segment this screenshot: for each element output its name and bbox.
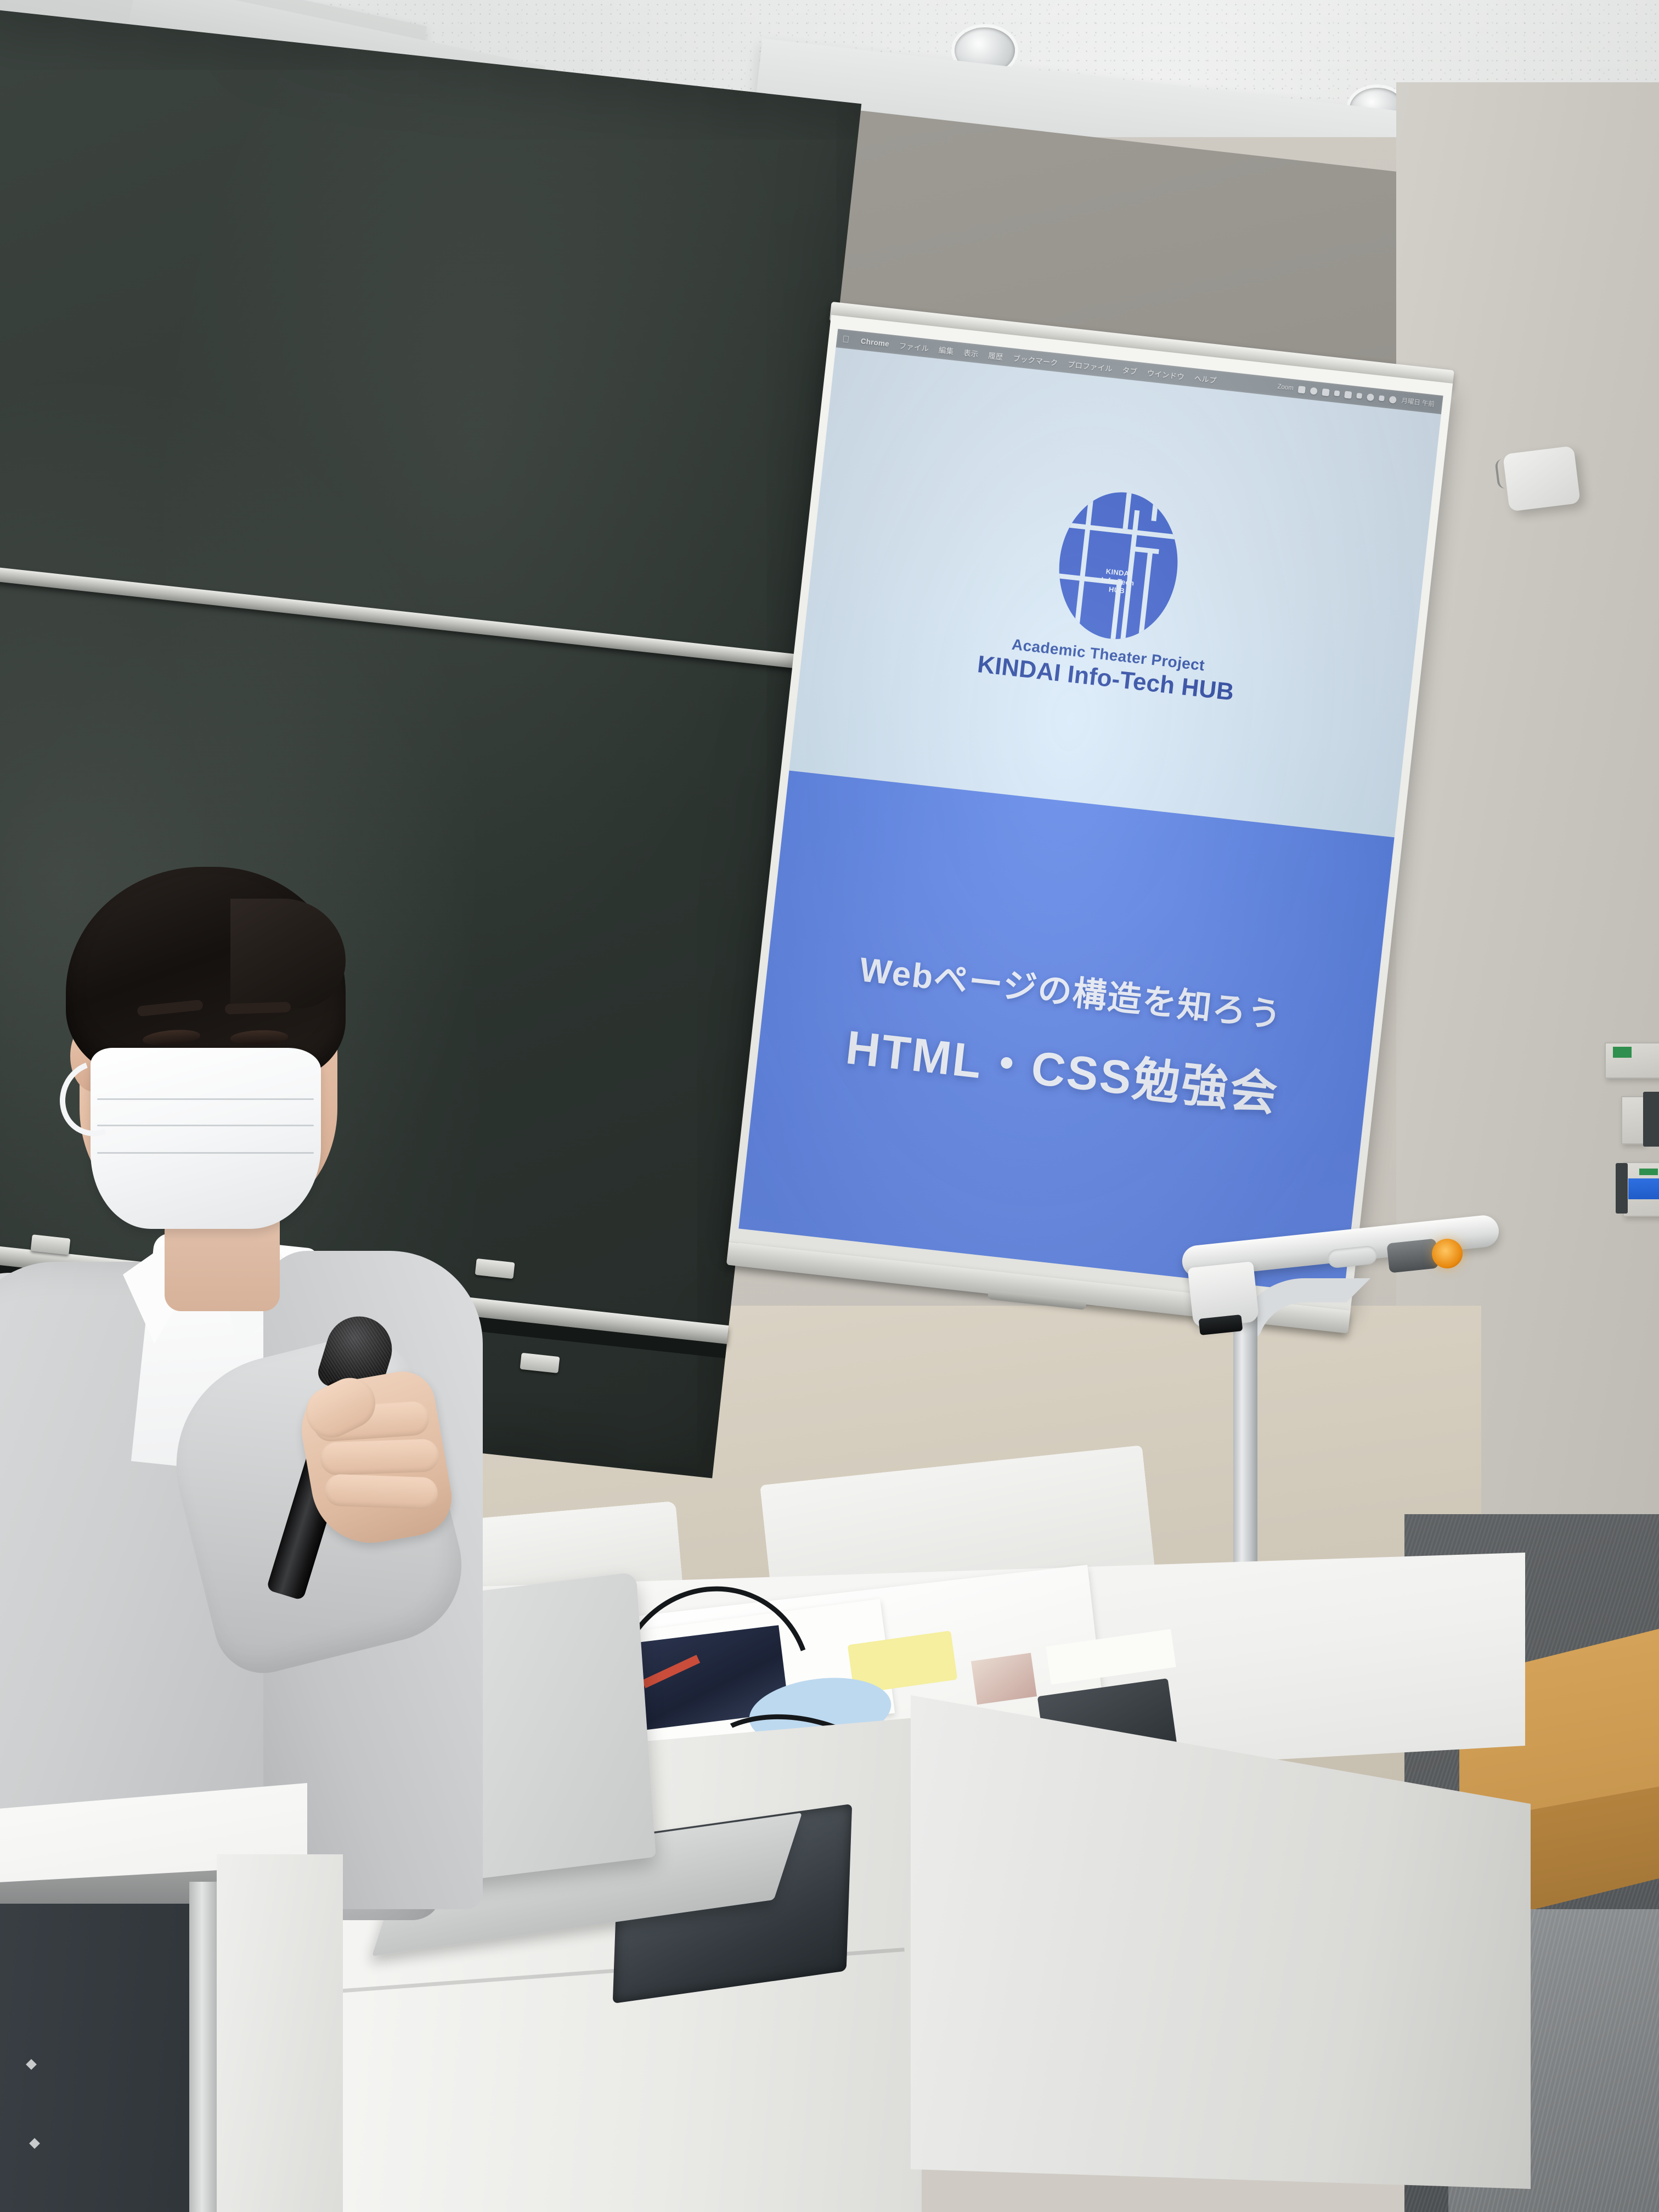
menu-item-edit[interactable]: 編集 (933, 343, 959, 357)
screen-share-icon[interactable] (1298, 386, 1306, 393)
projected-desktop:  Chrome ファイル 編集 表示 履歴 ブックマーク プロファイル タブ … (738, 329, 1443, 1295)
wall-panel-dark (1643, 1092, 1659, 1147)
menu-item-chrome[interactable]: Chrome (855, 336, 894, 349)
keyboard-icon[interactable] (1344, 391, 1352, 398)
foreground-desk-front (0, 1904, 208, 2212)
control-center-icon[interactable] (1379, 395, 1385, 401)
wall-control-panel-bezel (1616, 1163, 1628, 1214)
podium-small-card (971, 1653, 1037, 1705)
status-zoom-label[interactable]: Zoom (1277, 383, 1294, 392)
slide-title-section: Webページの構造を知ろう HTML・CSS勉強会 (738, 770, 1395, 1295)
menu-item-bookmarks[interactable]: ブックマーク (1007, 352, 1063, 369)
menu-item-profiles[interactable]: プロファイル (1062, 358, 1118, 375)
logo-ellipse: KINDAIInfo-TechHUB (1052, 486, 1185, 645)
wall-speaker-icon (1503, 445, 1581, 511)
wall-control-panel-display (1628, 1178, 1659, 1199)
wall-control-panel-led (1639, 1169, 1658, 1175)
status-datetime[interactable]: 月曜日 午前 (1401, 396, 1435, 409)
foreground-desk-right-panel (217, 1854, 343, 2212)
wall-panel-middle[interactable] (1621, 1096, 1645, 1144)
presentation-slide: KINDAIInfo-TechHUB Academic Theater Proj… (738, 347, 1441, 1295)
search-icon[interactable] (1367, 393, 1374, 401)
menu-item-help[interactable]: ヘルプ (1189, 371, 1222, 386)
lecture-room-photo:  Chrome ファイル 編集 表示 履歴 ブックマーク プロファイル タブ … (0, 0, 1659, 2212)
presenter-finger (324, 1474, 438, 1509)
menu-item-tab[interactable]: タブ (1117, 364, 1143, 377)
bluetooth-icon[interactable] (1322, 388, 1330, 396)
apple-logo-icon[interactable]:  (842, 334, 850, 344)
menu-item-file[interactable]: ファイル (894, 339, 935, 354)
display-icon[interactable] (1334, 390, 1340, 396)
kindai-info-tech-hub-logo-icon: KINDAIInfo-TechHUB (1052, 486, 1185, 645)
projection-screen:  Chrome ファイル 編集 表示 履歴 ブックマーク プロファイル タブ … (731, 315, 1447, 1342)
user-icon[interactable] (1389, 396, 1397, 403)
desk-panel-stud (26, 2059, 37, 2070)
desk-panel-stud (29, 2138, 40, 2149)
wifi-icon[interactable] (1356, 393, 1362, 399)
menu-item-window[interactable]: ウインドウ (1142, 366, 1190, 382)
podium-side-face (911, 1695, 1531, 2189)
wall-panel-indicator (1613, 1047, 1632, 1058)
presenter-finger (320, 1438, 439, 1476)
document-camera-knob[interactable] (1386, 1238, 1438, 1273)
logo-inner-text: KINDAIInfo-TechHUB (1100, 567, 1136, 596)
menu-item-view[interactable]: 表示 (958, 346, 984, 360)
slide-header-section: KINDAIInfo-TechHUB Academic Theater Proj… (789, 347, 1441, 837)
menu-item-history[interactable]: 履歴 (983, 349, 1008, 363)
battery-icon[interactable] (1310, 387, 1318, 394)
